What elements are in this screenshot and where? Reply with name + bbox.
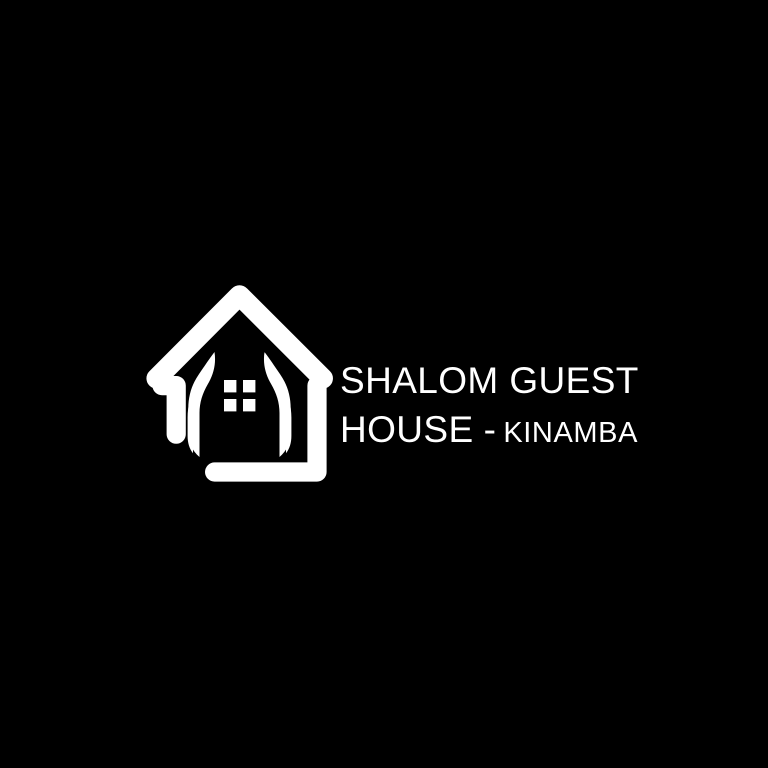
wordmark-locality-text: KINAMBA <box>503 419 638 448</box>
window-pane-bottom-right <box>243 399 255 411</box>
logo-lockup: SHALOM GUEST HOUSE - KINAMBA <box>136 272 632 482</box>
right-wall-and-base <box>205 376 327 482</box>
window-panes <box>224 380 255 411</box>
wordmark-separator: - <box>484 411 497 448</box>
window-pane-top-left <box>224 380 236 392</box>
window-pane-top-right <box>243 380 255 392</box>
wordmark-line-secondary: HOUSE - KINAMBA <box>340 411 639 448</box>
house-with-leaves-icon <box>136 272 336 482</box>
window-pane-bottom-left <box>224 399 236 411</box>
wordmark-house-text: HOUSE <box>340 411 474 448</box>
wordmark-line-primary: SHALOM GUEST <box>340 362 639 399</box>
roof-outline <box>146 285 333 388</box>
left-wall-stub <box>152 376 185 444</box>
logo-canvas: SHALOM GUEST HOUSE - KINAMBA <box>0 0 768 768</box>
wordmark: SHALOM GUEST HOUSE - KINAMBA <box>340 306 639 448</box>
